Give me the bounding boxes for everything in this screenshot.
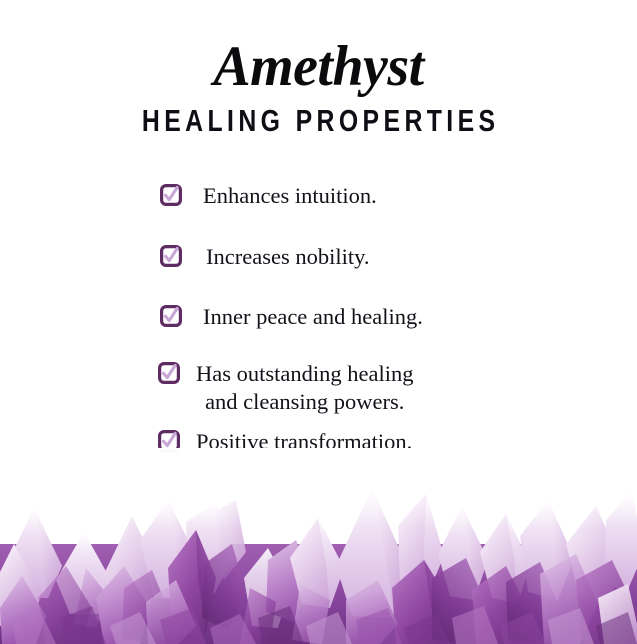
page-title: Amethyst <box>6 0 630 98</box>
list-item: Inner peace and healing. <box>0 303 637 330</box>
healing-properties-list: Enhances intuition. Increases nobility. <box>0 182 637 455</box>
amethyst-crystal-cluster-image <box>0 448 637 644</box>
list-item-label: Has outstanding healing and cleansing po… <box>196 360 413 416</box>
amethyst-healing-properties-poster: Amethyst HEALING PROPERTIES Enhances int… <box>0 0 637 644</box>
page-subtitle: HEALING PROPERTIES <box>64 98 574 138</box>
poster-header: Amethyst HEALING PROPERTIES <box>0 0 637 138</box>
checkbox-checked-icon[interactable] <box>158 362 180 384</box>
list-item-label: Inner peace and healing. <box>203 303 423 330</box>
list-item: Increases nobility. <box>0 243 637 270</box>
checkbox-checked-icon[interactable] <box>160 305 182 327</box>
list-item: Enhances intuition. <box>0 182 637 209</box>
checkbox-checked-icon[interactable] <box>160 245 182 267</box>
list-item-label: Increases nobility. <box>206 243 370 270</box>
list-item-label: Enhances intuition. <box>203 182 377 209</box>
checkbox-checked-icon[interactable] <box>160 184 182 206</box>
list-item: Has outstanding healing and cleansing po… <box>0 360 637 416</box>
